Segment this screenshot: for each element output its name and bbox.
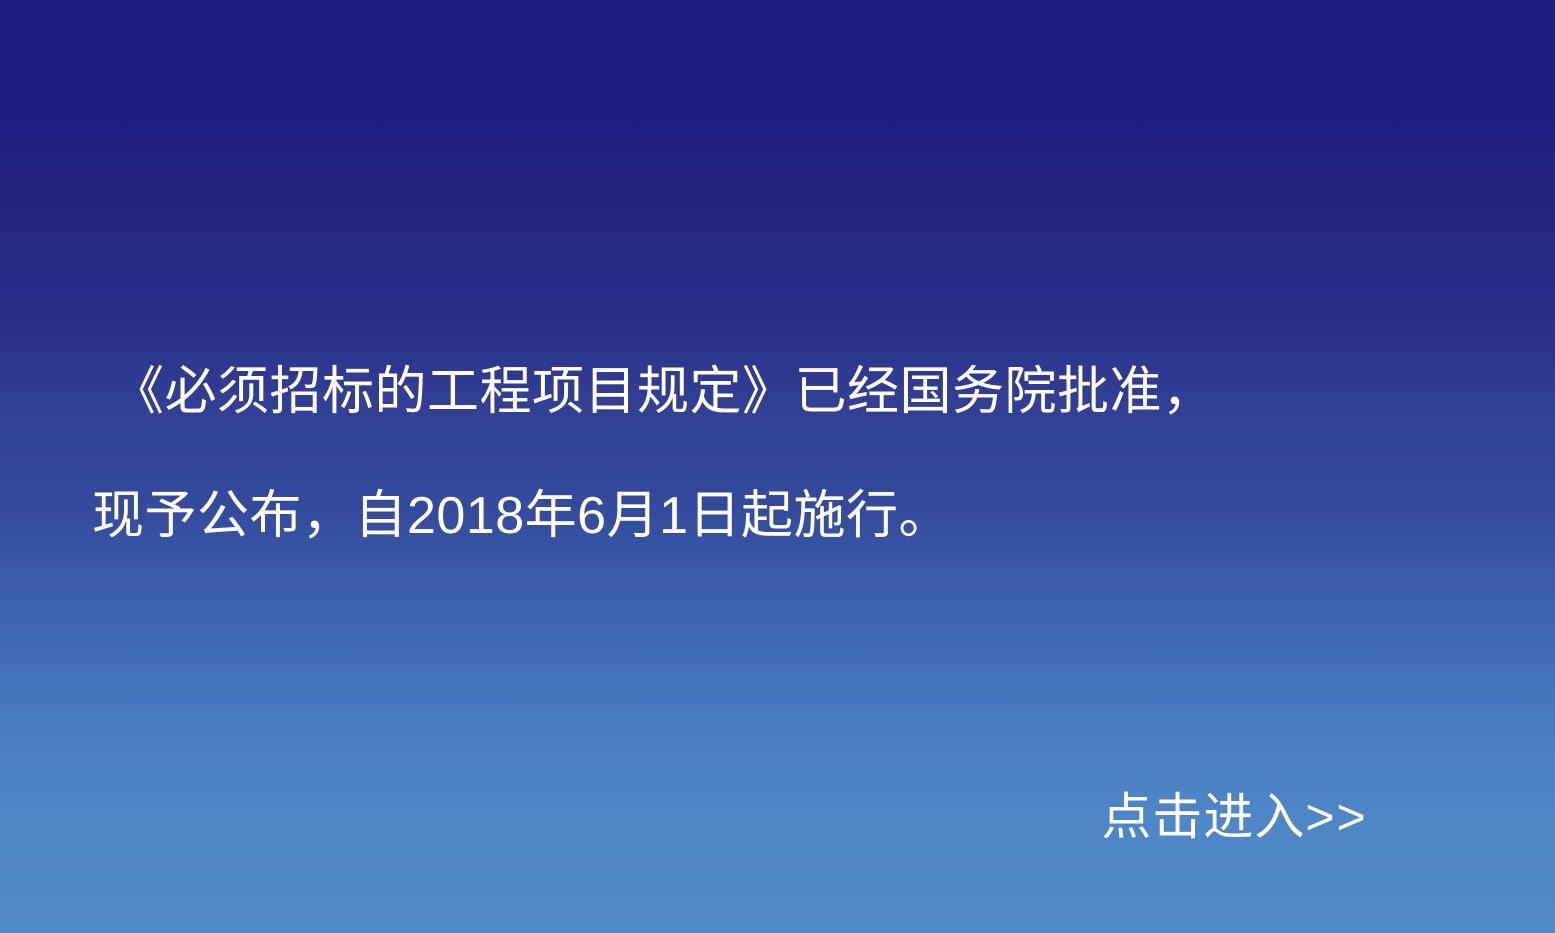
announcement-line-1: 《必须招标的工程项目规定》已经国务院批准，: [0, 330, 1555, 454]
announcement-line-2: 现予公布，自2018年6月1日起施行。: [0, 454, 1555, 578]
enter-link[interactable]: 点击进入>>: [1012, 688, 1368, 933]
enter-link-label: 点击进入: [1101, 789, 1305, 845]
announcement-text-block: 《必须招标的工程项目规定》已经国务院批准， 现予公布，自2018年6月1日起施行…: [0, 330, 1555, 578]
announcement-banner: 《必须招标的工程项目规定》已经国务院批准， 现予公布，自2018年6月1日起施行…: [0, 0, 1555, 933]
double-chevron-right-icon: >>: [1305, 789, 1367, 845]
